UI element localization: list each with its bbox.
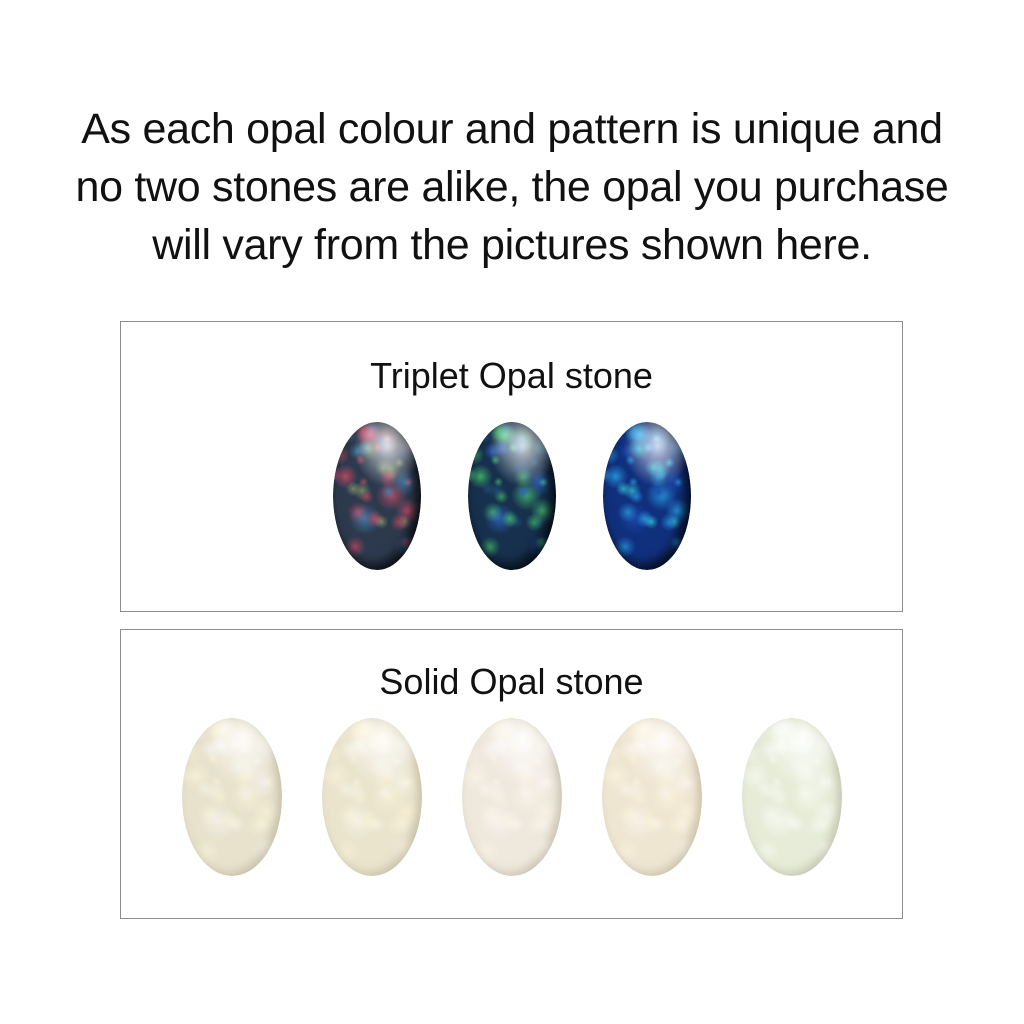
disclaimer-text: As each opal colour and pattern is uniqu… bbox=[0, 100, 1024, 274]
panel-triplet-opal: Triplet Opal stone bbox=[120, 321, 903, 612]
stone-row-triplet bbox=[121, 422, 902, 570]
gem-fleck-layer-secondary bbox=[742, 718, 842, 876]
solid-opal-cream-amber bbox=[322, 718, 422, 876]
gem-fleck-layer-secondary bbox=[333, 422, 421, 570]
gem-fleck-layer-secondary bbox=[322, 718, 422, 876]
stone-row-solid bbox=[121, 718, 902, 876]
gem-fleck-layer-secondary bbox=[182, 718, 282, 876]
gem-fleck-layer-secondary bbox=[603, 422, 691, 570]
gem-fleck-layer-secondary bbox=[602, 718, 702, 876]
panel-title-triplet: Triplet Opal stone bbox=[121, 355, 902, 397]
gem-fleck-layer-secondary bbox=[462, 718, 562, 876]
gem-fleck-layer-secondary bbox=[468, 422, 556, 570]
solid-opal-rose bbox=[602, 718, 702, 876]
panel-title-solid: Solid Opal stone bbox=[121, 661, 902, 703]
solid-opal-cream-multi bbox=[182, 718, 282, 876]
solid-opal-pink-gold bbox=[462, 718, 562, 876]
disclaimer-line-1: As each opal colour and pattern is uniqu… bbox=[22, 100, 1002, 158]
triplet-opal-blue bbox=[603, 422, 691, 570]
disclaimer-line-2: no two stones are alike, the opal you pu… bbox=[22, 158, 1002, 216]
solid-opal-mint bbox=[742, 718, 842, 876]
panel-solid-opal: Solid Opal stone bbox=[120, 629, 903, 919]
disclaimer-line-3: will vary from the pictures shown here. bbox=[22, 216, 1002, 274]
triplet-opal-green bbox=[468, 422, 556, 570]
triplet-opal-red bbox=[333, 422, 421, 570]
